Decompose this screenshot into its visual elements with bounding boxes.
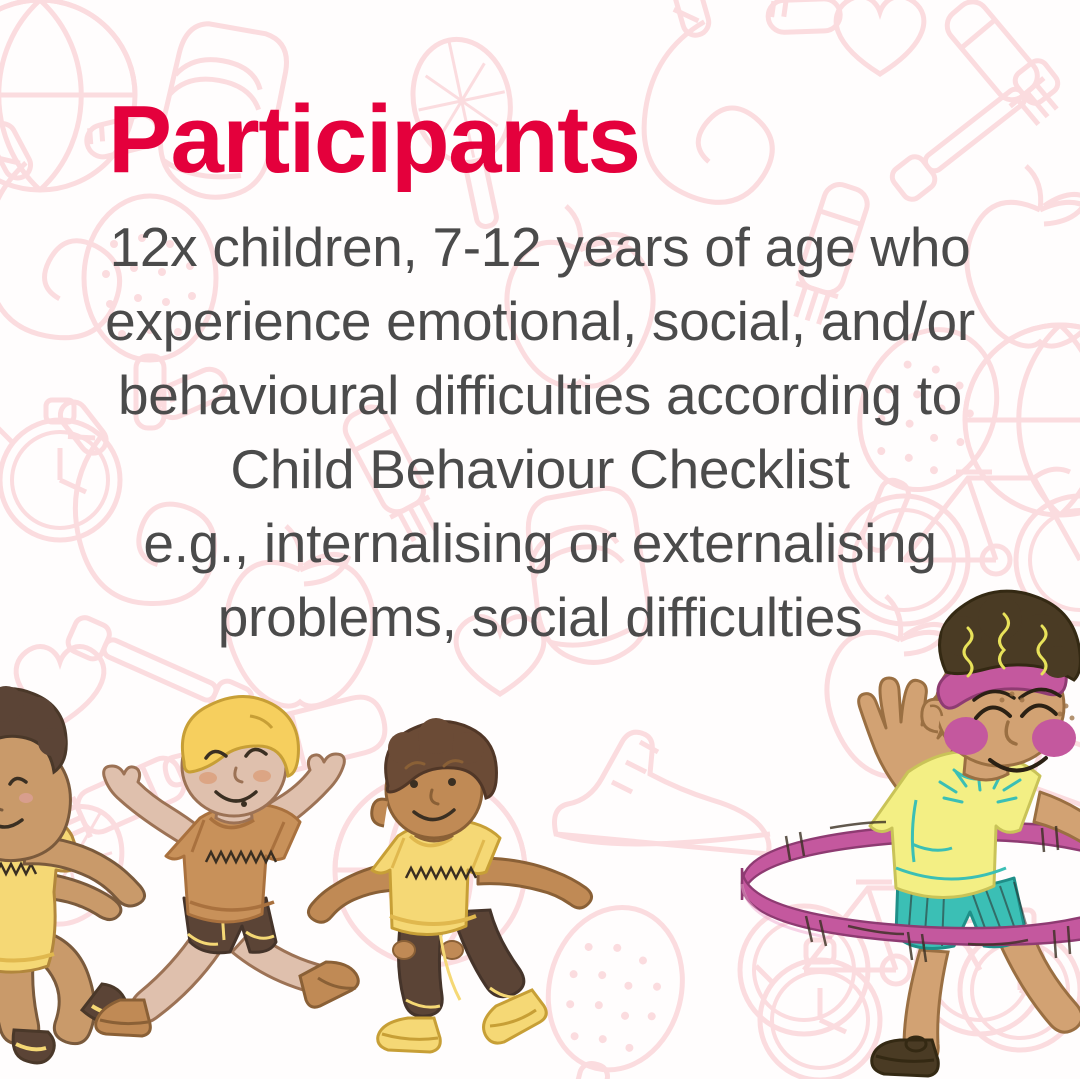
hula-hoop-back	[742, 823, 1080, 900]
body-line-3: behavioural difficulties according to	[0, 358, 1080, 432]
child-curly-hair-left	[0, 686, 145, 1063]
child-blonde-jumping	[96, 696, 359, 1036]
child-brown-hair-arms-out	[308, 718, 591, 1052]
hula-hoop-front	[742, 822, 1080, 962]
body-line-2: experience emotional, social, and/or	[0, 284, 1080, 358]
body-line-1: 12x children, 7-12 years of age who	[0, 210, 1080, 284]
page-title: Participants	[0, 0, 1080, 188]
body-text: 12x children, 7-12 years of age who expe…	[0, 188, 1080, 654]
body-line-6: problems, social difficulties	[0, 580, 1080, 654]
text-block: Participants 12x children, 7-12 years of…	[0, 0, 1080, 654]
child-hula-hoop	[742, 591, 1080, 1076]
body-line-5: e.g., internalising or externalising	[0, 506, 1080, 580]
slide-canvas: Participants 12x children, 7-12 years of…	[0, 0, 1080, 1079]
body-line-4: Child Behaviour Checklist	[0, 432, 1080, 506]
